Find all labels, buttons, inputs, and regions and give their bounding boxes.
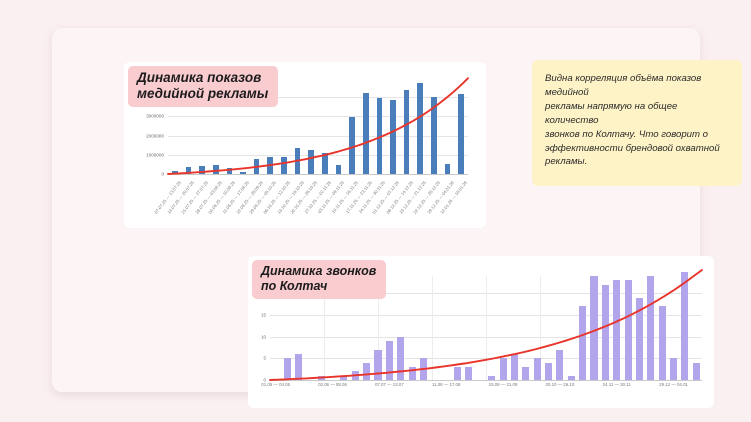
x-axis-tick-label: 24.11 — 30.11 <box>603 382 631 387</box>
insight-note: Видна корреляция объёма показов медийной… <box>532 60 742 186</box>
slide-canvas: Динамика показов медийной рекламы 010000… <box>0 0 751 422</box>
y-axis-tick-label: 2000000 <box>146 133 164 138</box>
y-axis-tick-label: 10 <box>261 334 266 339</box>
y-axis-tick-label: 0 <box>161 172 164 177</box>
impressions-chart-panel: Динамика показов медийной рекламы 010000… <box>124 62 486 228</box>
x-axis-tick-label: 29.12 — 04.01 <box>659 382 688 387</box>
content-card: Динамика показов медийной рекламы 010000… <box>52 28 700 392</box>
grid-line <box>168 174 468 175</box>
calls-x-axis-labels: 01.05 — 04.0502.06 — 08.0607.07 — 13.071… <box>270 382 702 394</box>
x-axis-tick-label: 15.09 — 21.09 <box>489 382 518 387</box>
x-axis-tick-label: 01.05 — 04.05 <box>261 382 290 387</box>
impressions-x-axis-labels: 07.07.25 — 13.07.2514.07.25 — 20.07.2521… <box>168 180 468 228</box>
x-axis-tick-label: 07.07 — 13.07 <box>375 382 404 387</box>
calls-chart-title: Динамика звонков по Колтач <box>252 260 386 299</box>
x-axis-tick-label: 11.08 — 17.08 <box>432 382 460 387</box>
calls-chart-panel: Динамика звонков по Колтач 05101520 01.0… <box>248 256 714 408</box>
y-axis-tick-label: 5 <box>264 356 266 361</box>
y-axis-tick-label: 1000000 <box>146 152 164 157</box>
impressions-chart-title: Динамика показов медийной рекламы <box>128 66 278 107</box>
y-axis-tick-label: 3000000 <box>146 114 164 119</box>
x-axis-tick-label: 20.10 — 26.10 <box>545 382 574 387</box>
y-axis-tick-label: 15 <box>261 313 266 318</box>
x-axis-tick-label: 02.06 — 08.06 <box>318 382 347 387</box>
grid-line <box>270 380 702 381</box>
